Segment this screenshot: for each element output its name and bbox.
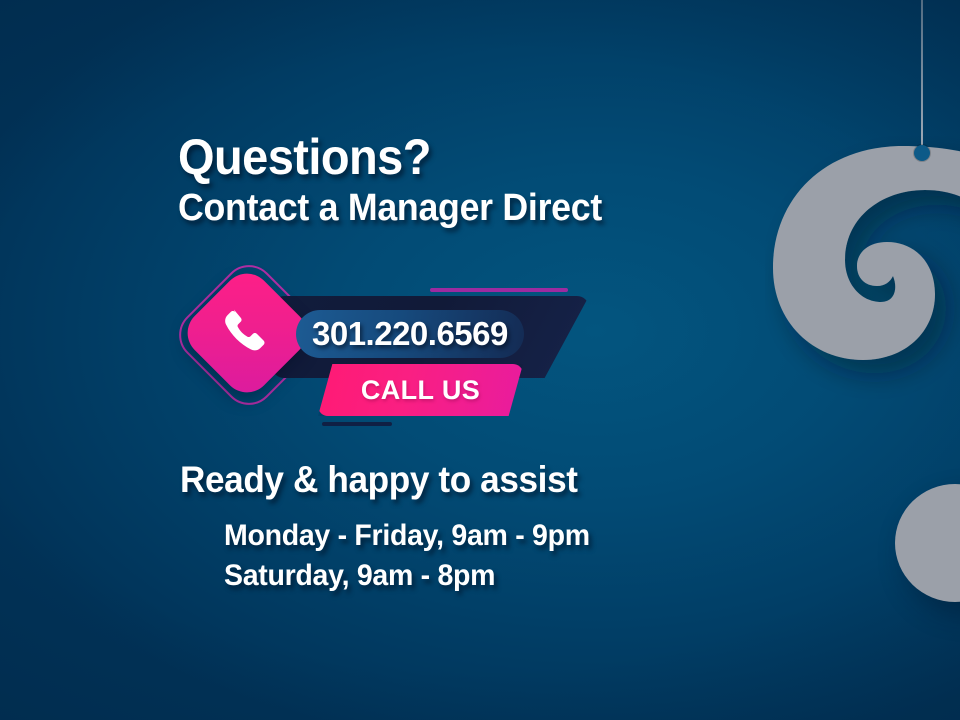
accent-line-top	[430, 288, 568, 292]
question-mark-decoration	[745, 0, 960, 640]
question-mark-icon	[765, 136, 960, 476]
phone-number-text: 301.220.6569	[312, 315, 508, 353]
hours-line-saturday: Saturday, 9am - 8pm	[224, 556, 590, 596]
call-us-button-label: CALL US	[361, 375, 480, 406]
page-subtitle: Contact a Manager Direct	[178, 184, 602, 233]
accent-line-bottom	[322, 422, 392, 426]
hanging-string-icon	[921, 0, 923, 152]
headline-block: Questions? Contact a Manager Direct	[178, 131, 629, 233]
question-mark-hole	[914, 145, 930, 161]
call-us-button[interactable]: CALL US	[318, 364, 523, 416]
contact-slide: Questions? Contact a Manager Direct 301.…	[0, 0, 960, 720]
phone-handset-icon	[220, 306, 274, 360]
question-mark-dot	[895, 484, 960, 602]
hours-block: Ready & happy to assist Monday - Friday,…	[180, 458, 609, 596]
hours-line-weekday: Monday - Friday, 9am - 9pm	[224, 516, 590, 556]
hours-list: Monday - Friday, 9am - 9pm Saturday, 9am…	[224, 516, 609, 596]
page-title: Questions?	[178, 131, 602, 184]
call-badge[interactable]: 301.220.6569 CALL US	[186, 272, 606, 432]
hours-title: Ready & happy to assist	[180, 458, 588, 502]
phone-number-pill[interactable]: 301.220.6569	[296, 310, 524, 358]
